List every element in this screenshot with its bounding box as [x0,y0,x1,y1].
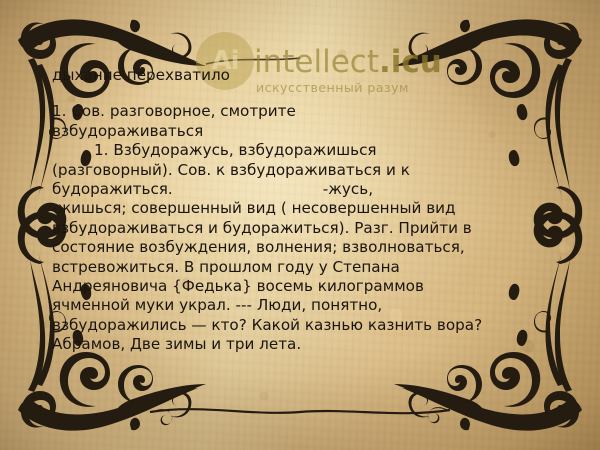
article-body: -жишься; совершенный вид ( несовершенный… [52,199,546,354]
sense-1-line-1: 1. Сов. разговорное, смотрите [52,102,546,121]
headword-line: дыхание перехватило [52,66,546,85]
sense-2-line-2: (разговорный). Сов. к взбудораживаться и… [52,161,546,180]
sense-2-line-1: 1. Взбудоражусь, взбудоражишься [52,141,546,160]
body-line-6: ячменной муки украл. --- Люди, понятно, [52,296,546,315]
sense-2-line-3-text: будоражиться. [52,180,173,198]
body-line-2: взбудораживаться и будоражиться). Разг. … [52,219,546,238]
body-line-4: встревожиться. В прошлом году у Степана [52,258,546,277]
sense-2-line-1-text: Взбудоражусь, взбудоражишься [113,141,376,159]
body-line-8: Абрамов, Две зимы и три лета. [52,335,546,354]
body-line-1: -жишься; совершенный вид ( несовершенный… [52,199,546,218]
dictionary-article: дыхание перехватило 1. Сов. разговорное,… [52,66,546,355]
sense-2-line-3: будоражиться.-жусь, [52,180,546,199]
sense-2-line-3-suffix: -жусь, [323,180,373,198]
sense-2: 1. Взбудоражусь, взбудоражишься (разгово… [52,141,546,199]
spacer [52,85,546,102]
sense-1-line-2: взбудораживаться [52,122,546,141]
body-line-3: состояние возбуждения, волнения; взволно… [52,238,546,257]
sense-2-number: 1. [94,141,109,159]
parchment-dictionary-page: Ai intellect.icu искусственный разум дых… [0,0,600,450]
body-line-7: взбудоражились — кто? Какой казнью казни… [52,316,546,335]
sense-1: 1. Сов. разговорное, смотрите взбудоражи… [52,102,546,141]
body-line-5: Андреяновича {Федька} восемь килограммов [52,277,546,296]
